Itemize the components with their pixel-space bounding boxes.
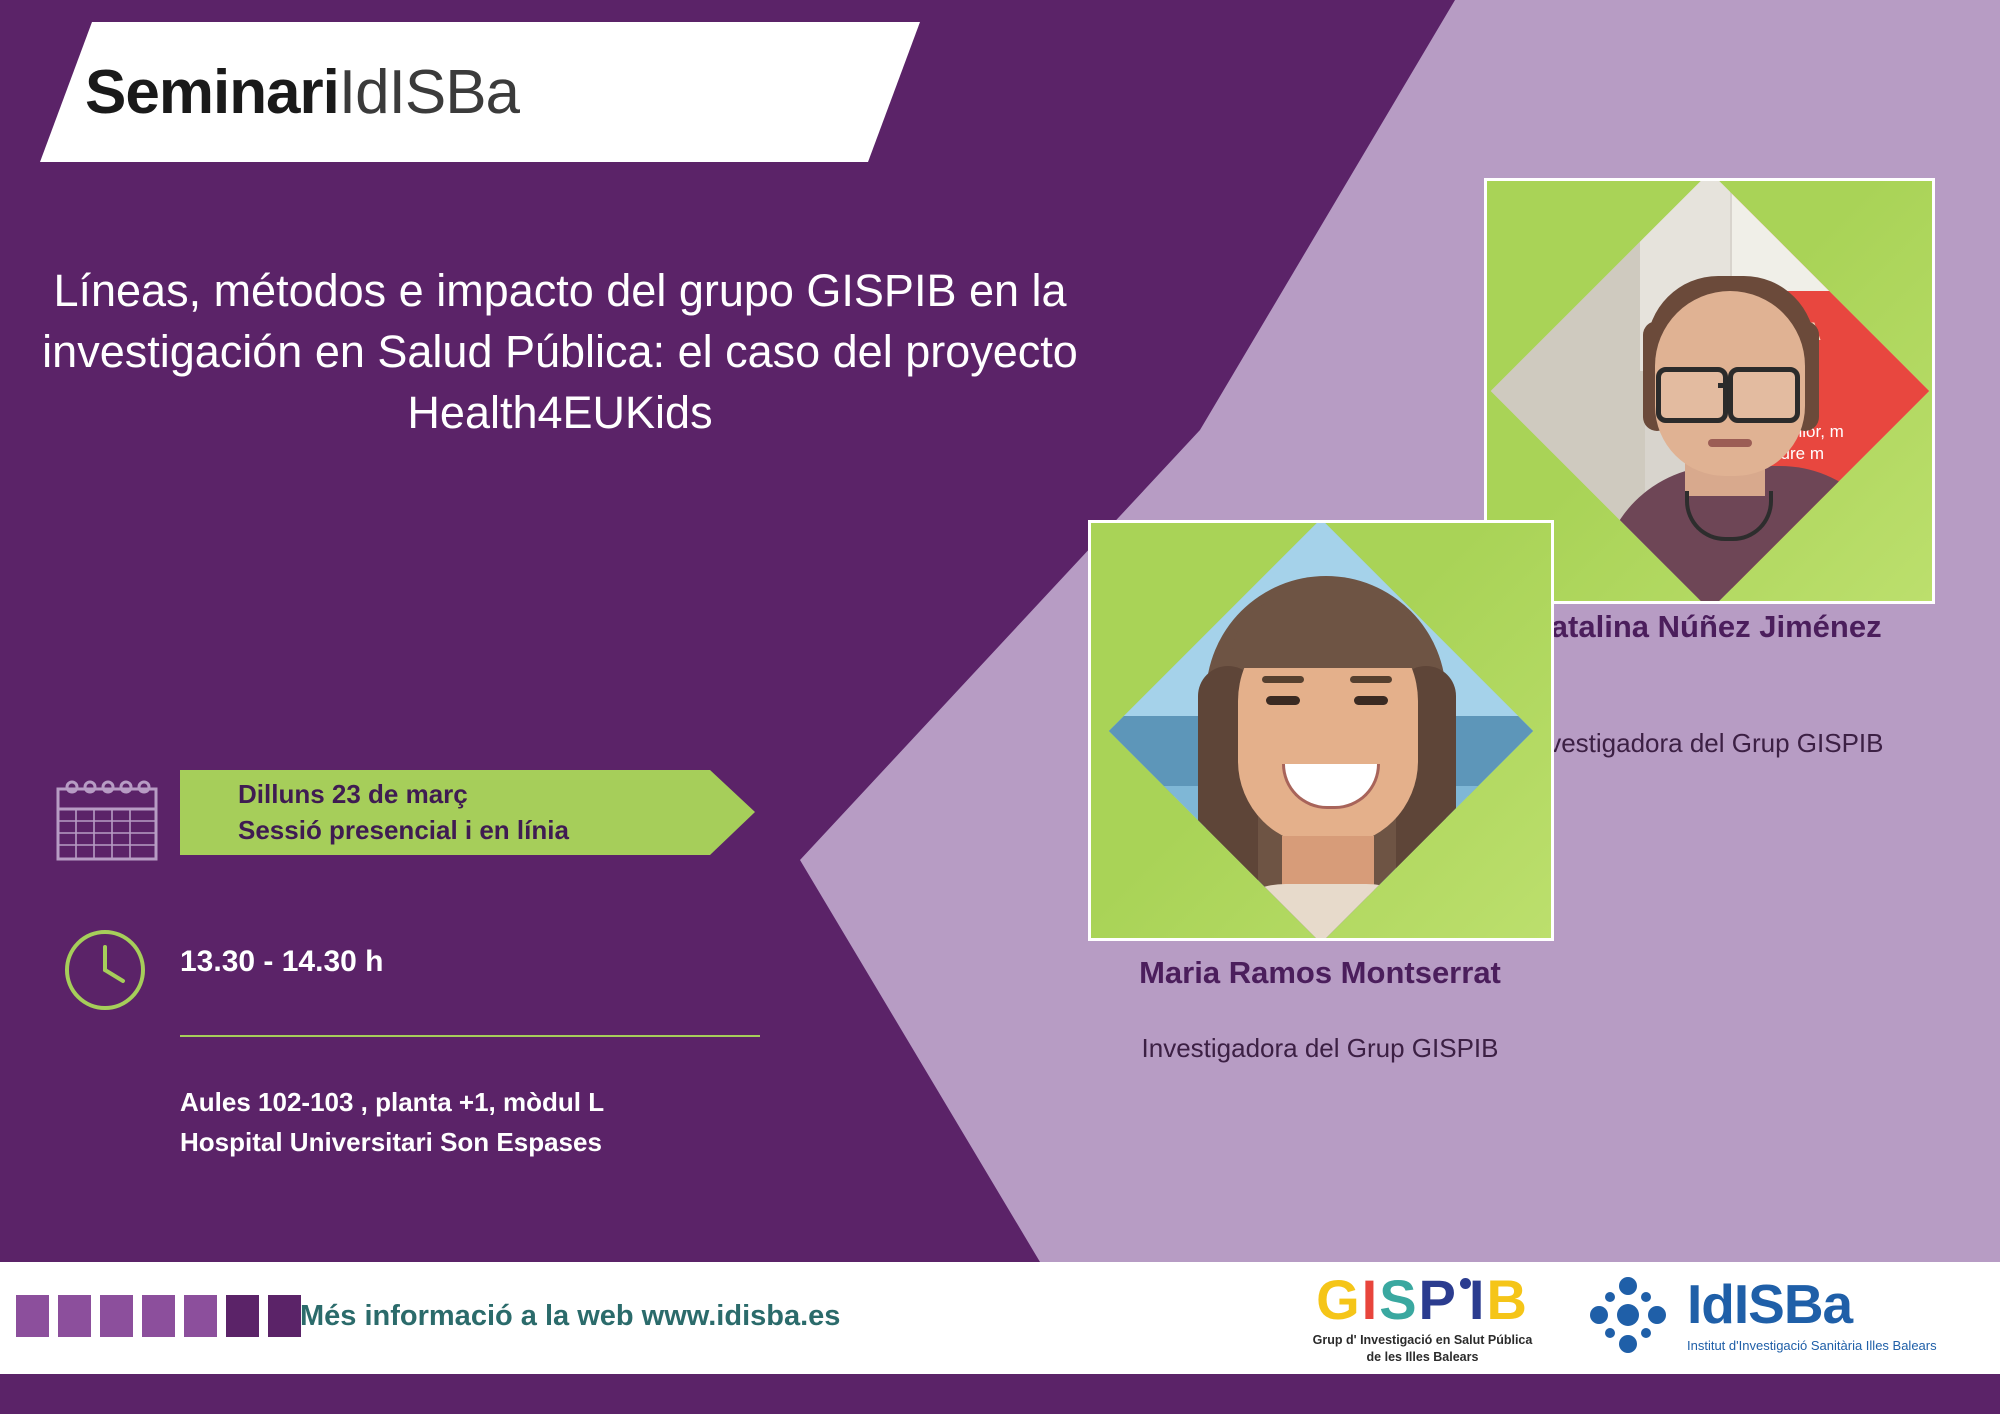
gispib-wordmark: GISPIB (1290, 1272, 1555, 1328)
gispib-logo: GISPIB Grup d' Investigació en Salut Púb… (1290, 1272, 1555, 1372)
idisba-tagline: Institut d'Investigació Sanitària Illes … (1687, 1338, 1937, 1353)
portrait-catalina-nunez: A L DANIA enjar millor, m ar, beure m (1490, 178, 1928, 604)
header-title-bold: Seminari (85, 58, 339, 127)
footer-squares-decoration (16, 1295, 301, 1337)
seminar-title: Líneas, métodos e impacto del grupo GISP… (30, 260, 1090, 444)
photo-maria (1088, 520, 1554, 941)
gispib-letter-g: G (1316, 1268, 1362, 1331)
calendar-icon (52, 775, 162, 865)
idisba-name: IdISBa (1687, 1277, 1937, 1332)
page-title: SeminariIdISBa (85, 57, 519, 128)
gispib-letter-p: P (1419, 1268, 1458, 1331)
date-banner: Dilluns 23 de març Sessió presencial i e… (180, 770, 755, 855)
gispib-subtitle: Grup d' Investigació en Salut Pública de… (1290, 1332, 1555, 1366)
place-line-1: Aules 102-103 , planta +1, mòdul L (180, 1082, 604, 1122)
gispib-letter-i2: I (1469, 1268, 1487, 1331)
idisba-logo: IdISBa Institut d'Investigació Sanitària… (1585, 1272, 1937, 1358)
date-line-1: Dilluns 23 de març (238, 777, 755, 812)
header-title-light: IdISBa (339, 58, 519, 127)
footer-more-info: Més informació a la web www.idisba.es (300, 1300, 840, 1333)
place-block: Aules 102-103 , planta +1, mòdul L Hospi… (180, 1082, 604, 1163)
gispib-subtitle-line1: Grup d' Investigació en Salut Pública (1313, 1333, 1533, 1347)
speaker-name-maria: Maria Ramos Montserrat (1060, 955, 1580, 991)
divider (180, 1035, 760, 1037)
date-line-2: Sessió presencial i en línia (238, 813, 755, 848)
idisba-mark-icon (1585, 1272, 1671, 1358)
gispib-subtitle-line2: de les Illes Balears (1367, 1350, 1479, 1364)
header-badge: SeminariIdISBa (40, 22, 920, 162)
gispib-letter-b: B (1486, 1268, 1528, 1331)
clock-icon (60, 925, 150, 1015)
gispib-dot-icon (1460, 1278, 1471, 1289)
place-line-2: Hospital Universitari Son Espases (180, 1122, 604, 1162)
diamond-mask-catalina: A L DANIA enjar millor, m ar, beure m (1490, 178, 1928, 604)
time-text: 13.30 - 14.30 h (180, 945, 383, 979)
portrait-maria-ramos (1109, 520, 1533, 941)
gispib-letter-s: S (1379, 1268, 1418, 1331)
gispib-letter-i1: I (1362, 1268, 1380, 1331)
speaker-role-maria: Investigadora del Grup GISPIB (1060, 1030, 1580, 1067)
diamond-mask-maria (1109, 520, 1533, 941)
idisba-text: IdISBa Institut d'Investigació Sanitària… (1687, 1277, 1937, 1353)
footer-bottom-strip (0, 1374, 2000, 1414)
